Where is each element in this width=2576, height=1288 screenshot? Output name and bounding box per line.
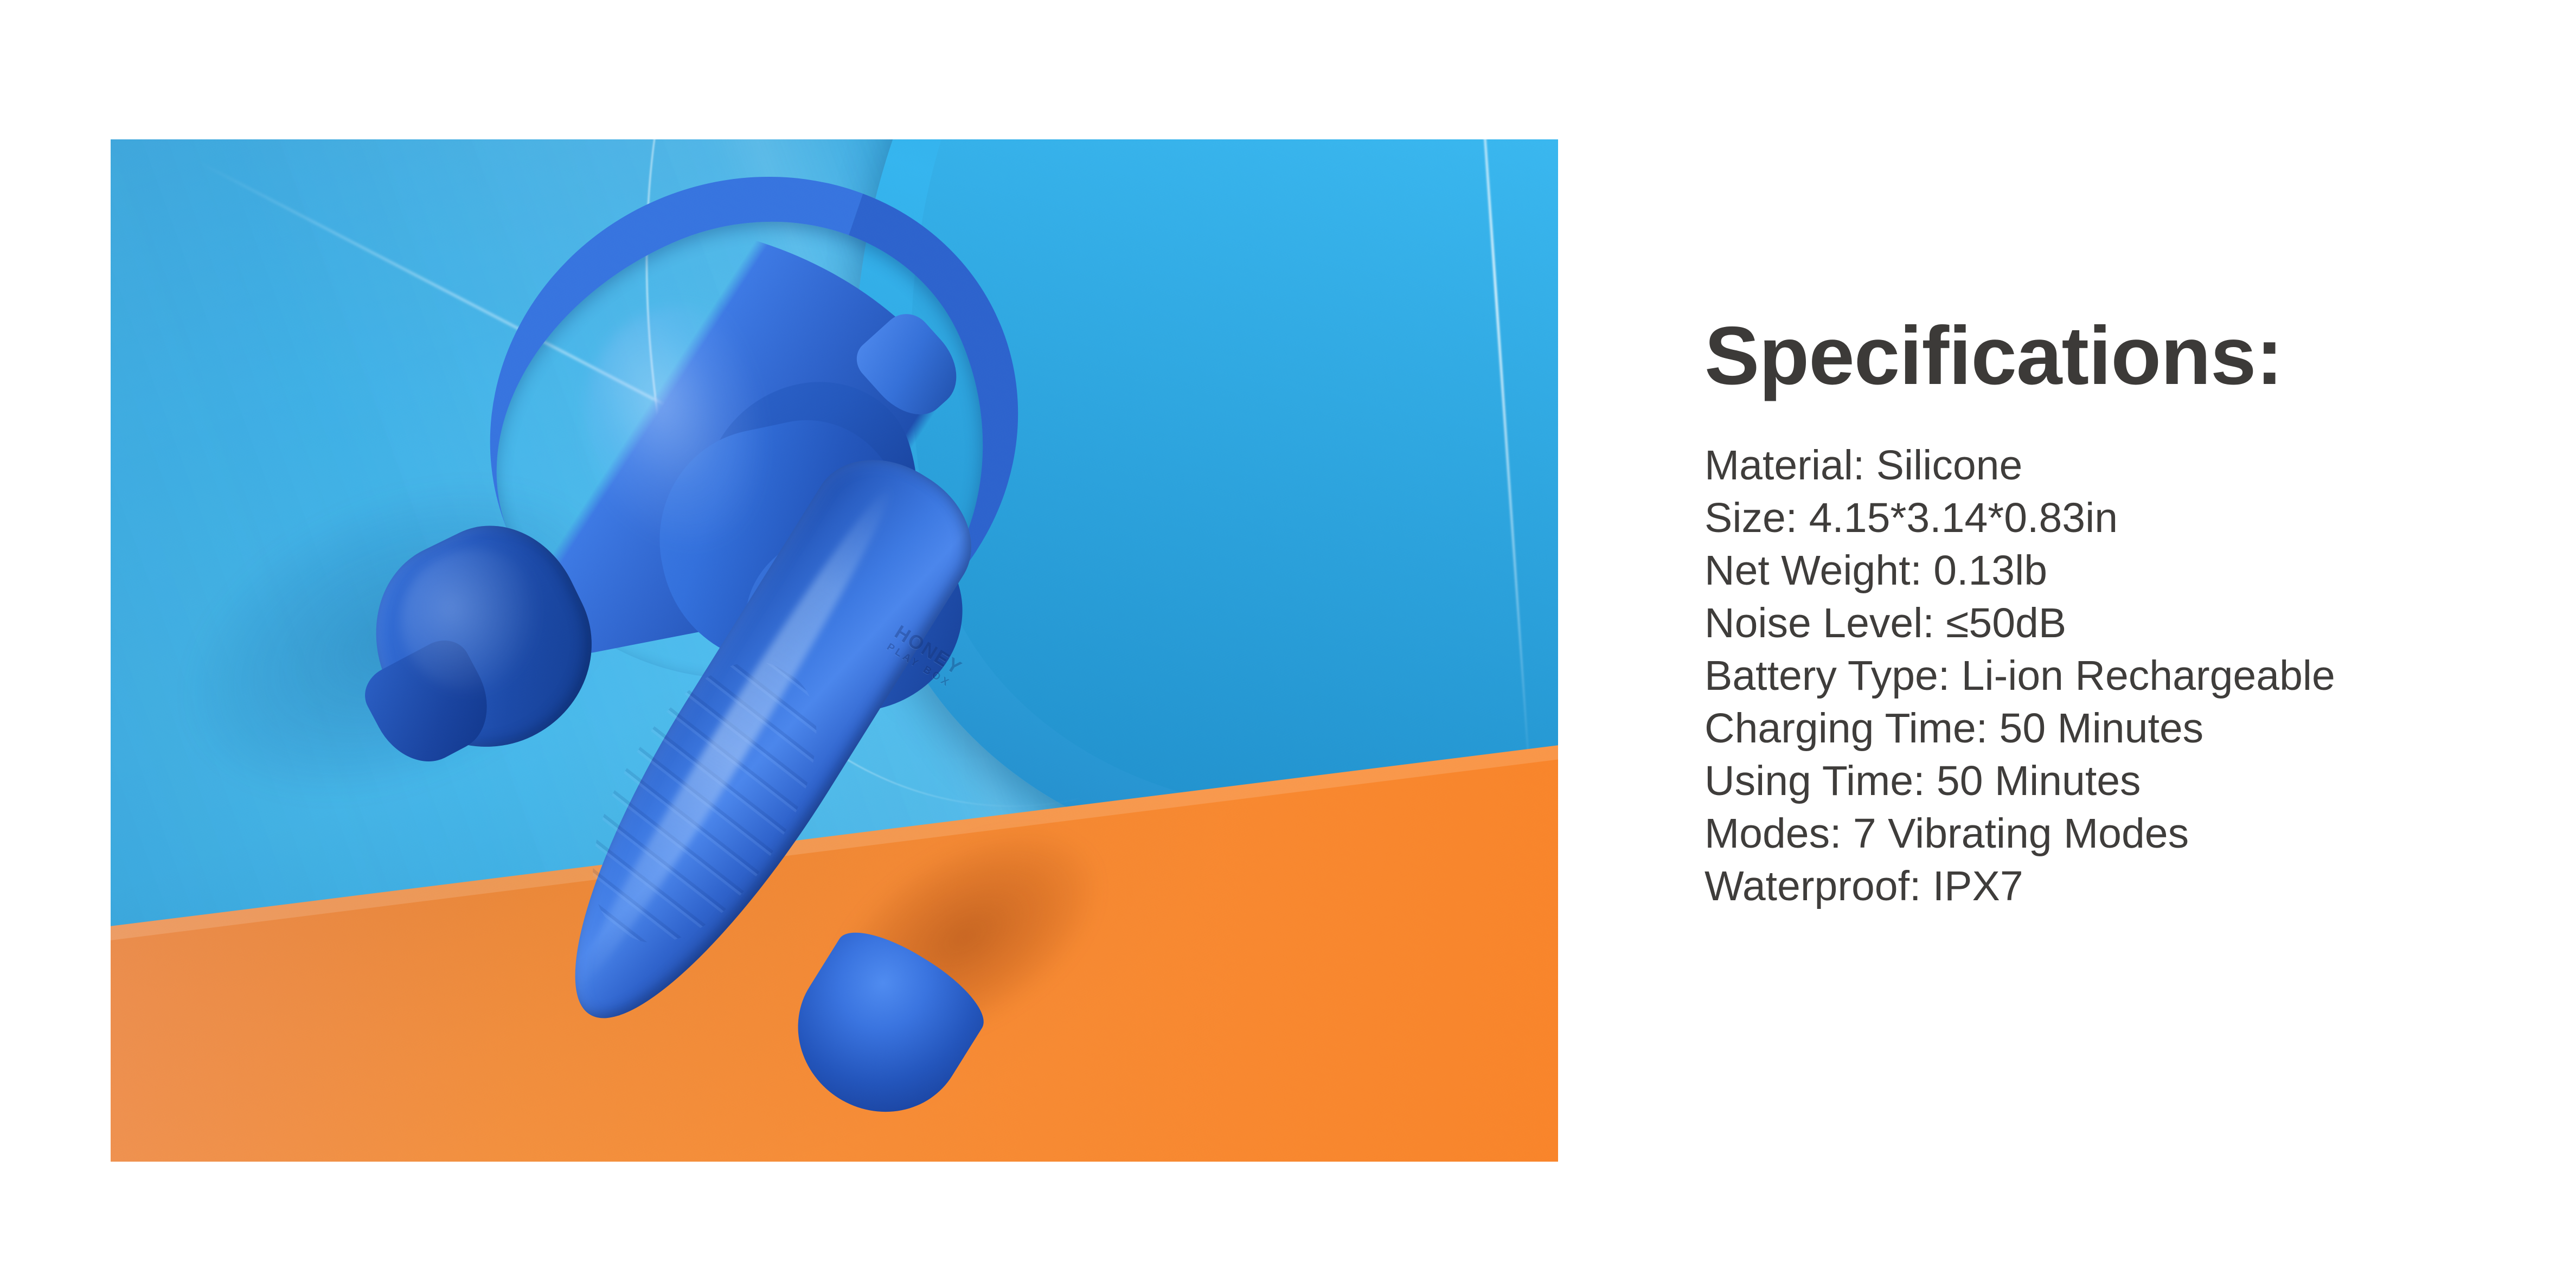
specifications-list: Material: Silicone Size: 4.15*3.14*0.83i…	[1704, 439, 2464, 913]
spec-item-size: Size: 4.15*3.14*0.83in	[1704, 492, 2464, 544]
spec-item-waterproof: Waterproof: IPX7	[1704, 860, 2464, 913]
spec-item-modes: Modes: 7 Vibrating Modes	[1704, 808, 2464, 860]
specifications-panel: Specifications: Material: Silicone Size:…	[1704, 315, 2464, 913]
spec-item-charging-time: Charging Time: 50 Minutes	[1704, 702, 2464, 755]
product-image: HONEY PLAY BOX	[111, 139, 1558, 1162]
spec-item-noise-level: Noise Level: ≤50dB	[1704, 597, 2464, 650]
spec-item-net-weight: Net Weight: 0.13lb	[1704, 544, 2464, 597]
specifications-title: Specifications:	[1704, 315, 2464, 397]
spec-item-using-time: Using Time: 50 Minutes	[1704, 755, 2464, 808]
spec-item-battery-type: Battery Type: Li-ion Rechargeable	[1704, 650, 2464, 702]
spec-item-material: Material: Silicone	[1704, 439, 2464, 492]
